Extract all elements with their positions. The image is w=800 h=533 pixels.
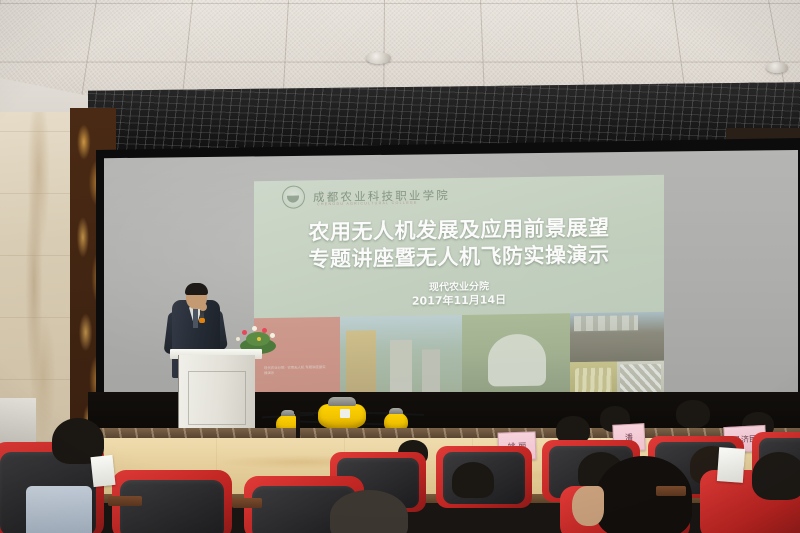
drone-cap	[281, 410, 295, 416]
audience-head	[452, 462, 494, 498]
slide-photo-column	[570, 312, 664, 401]
auditorium-photo: 成都农业科技职业学院 CHENGDU AGRICULTURAL COLLEGE …	[0, 0, 800, 533]
ceiling-speaker-icon	[366, 52, 391, 64]
handout-paper	[90, 455, 115, 487]
audience-head	[676, 400, 710, 428]
audience-shirt	[26, 486, 92, 533]
flower-bloom	[270, 333, 275, 338]
presenter-hair	[185, 283, 208, 295]
audience-seat-back	[120, 480, 224, 533]
audience-face	[572, 486, 604, 526]
presenter-hand	[199, 303, 207, 311]
drone-stand	[296, 410, 300, 438]
microphone-tip	[199, 318, 205, 323]
slide-date: 2017年11月14日	[412, 291, 506, 308]
college-logo-icon	[282, 185, 305, 208]
slide-title-line2: 专题讲座暨无人机飞防实操演示	[309, 239, 610, 274]
flower-bloom	[236, 337, 240, 341]
slide-photo-greenhouse-field	[570, 312, 664, 362]
ceiling-speaker-icon	[766, 62, 788, 73]
seat-armrest	[656, 486, 686, 496]
projected-slide: 成都农业科技职业学院 CHENGDU AGRICULTURAL COLLEGE …	[254, 175, 664, 406]
drone-cap	[328, 397, 356, 406]
slide-photo-campus-statue	[462, 313, 570, 403]
presenter-tie	[193, 308, 198, 328]
drone-label	[340, 409, 350, 418]
seat-armrest	[232, 498, 262, 508]
audience-head-foreground	[330, 490, 408, 533]
handout-paper	[717, 447, 745, 483]
seat-armrest	[108, 496, 142, 506]
drone-cap	[389, 408, 403, 414]
flower-bloom	[262, 328, 267, 333]
flower-bloom	[257, 337, 261, 341]
lectern-panel	[188, 371, 246, 425]
slide-accent-caption: 现代农业分院 · 农用无人机 专题讲座暨实操演示	[264, 365, 326, 375]
flower-bloom	[242, 330, 247, 335]
wall-panel-beige-marble	[0, 112, 74, 442]
audience-head-foreground	[752, 452, 800, 500]
flower-bloom	[252, 326, 257, 331]
